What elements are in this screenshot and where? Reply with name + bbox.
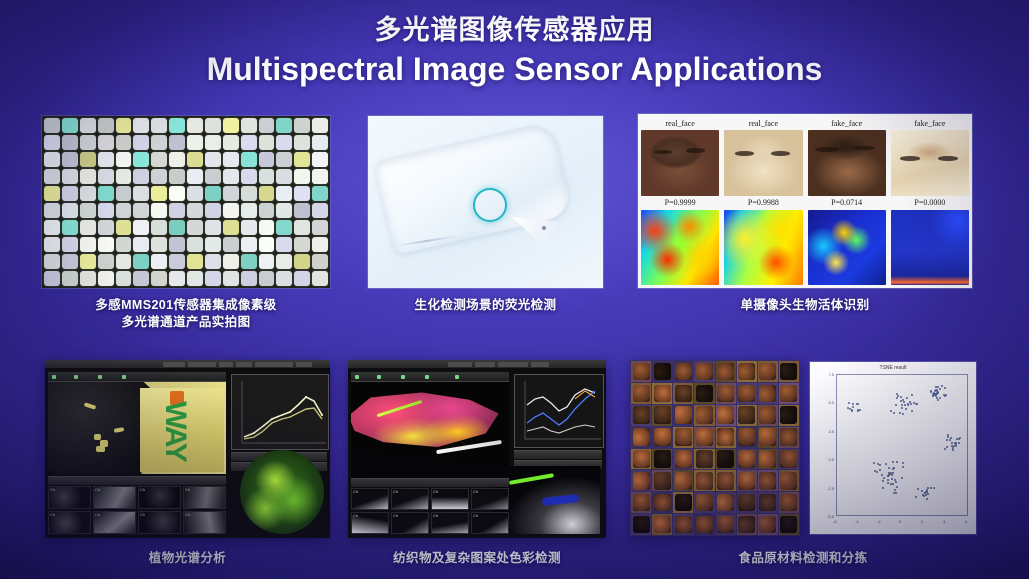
food-thumbnail	[716, 361, 736, 382]
food-thumbnail	[631, 405, 651, 426]
sensor-pixel	[98, 237, 114, 252]
scatter-point	[958, 442, 960, 444]
scatter-point	[883, 477, 885, 479]
face-result-column: fake_face P=0.0714	[808, 117, 886, 285]
sensor-pixel	[294, 220, 310, 235]
sensor-pixel	[223, 135, 239, 150]
food-thumbnail	[652, 470, 672, 491]
face-label: fake_face	[891, 117, 969, 130]
food-thumbnail	[652, 405, 672, 426]
package-text: WAY	[158, 401, 192, 461]
sensor-pixel	[223, 203, 239, 218]
food-thumbnail	[758, 470, 778, 491]
scatter-point	[944, 448, 946, 450]
food-item	[759, 406, 776, 424]
food-item	[633, 428, 650, 446]
sensor-pixel	[62, 220, 78, 235]
food-item	[633, 472, 650, 490]
food-thumbnail	[716, 383, 736, 404]
caption-line-1: 纺织物及复杂图案处色彩检测	[348, 550, 606, 567]
scatter-point	[949, 439, 951, 441]
food-item	[759, 450, 776, 468]
sensor-pixel	[169, 203, 185, 218]
sensor-pixel	[44, 152, 60, 167]
sensor-pixel	[205, 203, 221, 218]
sensor-pixel	[241, 271, 257, 286]
sensor-pixel	[133, 118, 149, 133]
food-thumbnail	[652, 514, 672, 535]
face-label: fake_face	[808, 117, 886, 130]
scatter-point	[901, 477, 903, 479]
food-thumbnail	[631, 361, 651, 382]
scatter-point	[910, 403, 912, 405]
food-item	[654, 494, 671, 512]
scatter-point	[887, 479, 889, 481]
food-item	[633, 406, 650, 424]
sensor-pixel	[187, 186, 203, 201]
scatter-x-tick: -6	[833, 519, 837, 524]
scatter-point	[954, 442, 956, 444]
panel-fluorescence-image	[368, 116, 603, 288]
sensor-pixel	[62, 254, 78, 269]
food-item	[633, 516, 650, 534]
sensor-pixel	[44, 254, 60, 269]
sensor-pixel	[187, 237, 203, 252]
scatter-point	[887, 482, 889, 484]
app-tab-row	[348, 360, 606, 368]
panel-plant-spectral-image: WAY Ch Ch Ch Ch	[45, 360, 330, 538]
caption-textile-color: 纺织物及复杂图案处色彩检测	[348, 550, 606, 567]
sensor-pixel	[223, 152, 239, 167]
sensor-pixel	[98, 135, 114, 150]
sensor-pixel	[259, 237, 275, 252]
sensor-pixel	[116, 220, 132, 235]
face-result-column: real_face P=0.9988	[724, 117, 802, 285]
face-thumbnail	[891, 130, 969, 196]
sensor-pixel	[187, 254, 203, 269]
sensor-pixel	[151, 118, 167, 133]
food-thumbnail	[673, 427, 693, 448]
food-item	[738, 450, 755, 468]
food-item	[738, 385, 755, 403]
sensor-pixel	[80, 203, 96, 218]
food-item	[759, 494, 776, 512]
food-thumbnail	[716, 514, 736, 535]
face-heatmap	[641, 210, 719, 285]
food-thumbnail	[758, 427, 778, 448]
sensor-pixel	[276, 118, 292, 133]
face-probability: P=0.9999	[641, 196, 719, 210]
sensor-pixel	[205, 237, 221, 252]
sensor-pixel	[312, 203, 328, 218]
scatter-point	[859, 409, 861, 411]
scatter-x-tick: -2	[877, 519, 881, 524]
scatter-point	[892, 461, 894, 463]
food-item	[696, 363, 713, 381]
sensor-pixel	[151, 135, 167, 150]
food-thumbnail	[716, 492, 736, 513]
food-thumbnail	[694, 514, 714, 535]
food-thumbnail	[737, 405, 757, 426]
food-item	[759, 363, 776, 381]
sensor-pixel	[133, 220, 149, 235]
scatter-point	[857, 410, 859, 412]
product-package: WAY	[140, 388, 224, 472]
caption-line-1: 植物光谱分析	[45, 550, 330, 567]
scatter-point	[882, 487, 884, 489]
sensor-pixel	[241, 186, 257, 201]
panel-textile-color-image: Ch Ch Ch Ch Ch Ch Ch Ch	[348, 360, 606, 538]
scatter-point	[944, 395, 946, 397]
scatter-point	[890, 483, 892, 485]
scatter-point	[913, 402, 915, 404]
scatter-point	[941, 385, 943, 387]
food-item	[675, 516, 692, 534]
sensor-pixel	[205, 169, 221, 184]
food-thumbnail	[652, 449, 672, 470]
food-thumbnail	[694, 405, 714, 426]
scatter-point	[876, 471, 878, 473]
scatter-point	[895, 492, 897, 494]
face-thumbnail	[724, 130, 802, 196]
slide-title-block: 多光谱图像传感器应用 Multispectral Image Sensor Ap…	[0, 13, 1029, 89]
sensor-pixel	[80, 152, 96, 167]
sensor-pixel	[276, 237, 292, 252]
food-thumbnail	[779, 361, 799, 382]
food-thumbnail	[758, 449, 778, 470]
scatter-point	[851, 410, 853, 412]
sensor-pixel	[151, 237, 167, 252]
food-item	[654, 385, 671, 403]
sensor-pixel	[169, 152, 185, 167]
scatter-point	[937, 399, 939, 401]
sensor-pixel	[241, 203, 257, 218]
food-item	[675, 428, 692, 446]
sensor-pixel	[187, 203, 203, 218]
sensor-pixel	[169, 118, 185, 133]
sensor-pixel	[44, 220, 60, 235]
scatter-point	[907, 404, 909, 406]
scatter-point	[950, 437, 952, 439]
sensor-pixel	[223, 254, 239, 269]
scatter-point	[895, 481, 897, 483]
food-thumbnail	[779, 427, 799, 448]
sensor-pixel	[294, 203, 310, 218]
sensor-pixel	[44, 237, 60, 252]
sensor-pixel	[294, 186, 310, 201]
food-thumbnail	[779, 470, 799, 491]
food-thumbnail	[716, 405, 736, 426]
sensor-pixel	[80, 237, 96, 252]
scatter-point	[925, 494, 927, 496]
sensor-pixel	[116, 118, 132, 133]
scatter-y-tick: -5.0	[819, 514, 834, 519]
sensor-pixel	[276, 186, 292, 201]
sensor-pixel	[205, 118, 221, 133]
sensor-pixel	[133, 135, 149, 150]
sensor-pixel	[312, 118, 328, 133]
food-item	[780, 363, 797, 381]
scatter-point	[892, 483, 894, 485]
food-thumbnail	[716, 449, 736, 470]
food-item	[675, 494, 692, 512]
sensor-pixel	[62, 186, 78, 201]
caption-plant-spectral: 植物光谱分析	[45, 550, 330, 567]
food-item	[780, 494, 797, 512]
food-item	[780, 516, 797, 534]
sensor-pixel	[259, 203, 275, 218]
sensor-pixel	[98, 118, 114, 133]
scatter-x-tick: -4	[855, 519, 859, 524]
scatter-point	[902, 466, 904, 468]
food-item	[780, 472, 797, 490]
sensor-pixel	[259, 152, 275, 167]
food-item	[696, 406, 713, 424]
food-thumbnail	[779, 405, 799, 426]
panel-sensor-mosaic-image	[42, 116, 330, 288]
food-thumbnail-grid	[630, 360, 800, 536]
sensor-pixel	[169, 135, 185, 150]
sensor-pixel	[44, 186, 60, 201]
scatter-point	[916, 403, 918, 405]
sensor-pixel	[62, 237, 78, 252]
classification-result-image	[240, 450, 324, 534]
scatter-point	[894, 489, 896, 491]
sensor-pixel	[169, 254, 185, 269]
sensor-pixel	[223, 118, 239, 133]
sensor-pixel	[98, 203, 114, 218]
sensor-pixel	[133, 271, 149, 286]
sensor-pixel	[151, 169, 167, 184]
sensor-pixel	[223, 271, 239, 286]
textile-false-color-preview	[351, 382, 509, 478]
scatter-point	[902, 462, 904, 464]
sensor-pixel	[116, 203, 132, 218]
sensor-pixel	[223, 169, 239, 184]
sensor-pixel	[116, 237, 132, 252]
food-item	[654, 406, 671, 424]
sensor-pixel	[223, 186, 239, 201]
food-item	[717, 494, 734, 512]
food-thumbnail	[737, 361, 757, 382]
food-item	[717, 428, 734, 446]
food-item	[717, 472, 734, 490]
sensor-pixel	[205, 152, 221, 167]
sensor-pixel	[62, 118, 78, 133]
food-item	[696, 494, 713, 512]
scatter-point	[946, 439, 948, 441]
caption-sensor-mosaic: 多感MMS201传感器集成像素级 多光谱通道产品实拍图	[42, 297, 330, 331]
sensor-pixel	[169, 237, 185, 252]
sensor-pixel	[133, 152, 149, 167]
scatter-point	[932, 395, 934, 397]
sensor-pixel	[259, 186, 275, 201]
food-item	[696, 472, 713, 490]
sensor-pixel	[276, 135, 292, 150]
scatter-point	[915, 496, 917, 498]
caption-line-1: 单摄像头生物活体识别	[638, 297, 972, 314]
sensor-pixel	[116, 186, 132, 201]
food-item	[717, 363, 734, 381]
sensor-pixel	[44, 271, 60, 286]
sensor-pixel	[241, 118, 257, 133]
food-thumbnail	[758, 405, 778, 426]
spectral-plot	[231, 374, 329, 450]
scatter-y-tick: 5.0	[819, 400, 834, 405]
food-thumbnail	[694, 383, 714, 404]
scatter-plot-title: TSNE result	[810, 365, 976, 371]
food-item	[654, 516, 671, 534]
sensor-pixel	[276, 152, 292, 167]
sensor-pixel	[241, 152, 257, 167]
sensor-pixel	[294, 271, 310, 286]
scatter-point	[937, 391, 939, 393]
scatter-point	[896, 393, 898, 395]
food-thumbnail	[631, 449, 651, 470]
sensor-pixel	[241, 237, 257, 252]
scatter-point	[905, 408, 907, 410]
scatter-point	[857, 403, 859, 405]
caption-line-2: 多光谱通道产品实拍图	[42, 314, 330, 331]
face-result-column: real_face P=0.9999	[641, 117, 719, 285]
sensor-pixel	[98, 254, 114, 269]
section-header-display-channels[interactable]	[48, 476, 226, 485]
food-thumbnail	[779, 449, 799, 470]
camera-preview: WAY	[48, 382, 226, 474]
food-thumbnail	[631, 514, 651, 535]
scatter-point	[930, 487, 932, 489]
filter-array-mosaic	[44, 118, 328, 286]
sensor-pixel	[259, 271, 275, 286]
sensor-pixel	[259, 169, 275, 184]
food-item	[717, 450, 734, 468]
food-item	[696, 450, 713, 468]
sensor-pixel	[205, 186, 221, 201]
food-thumbnail	[737, 427, 757, 448]
caption-food-sorting: 食品原材料检测和分拣	[630, 550, 976, 567]
food-thumbnail	[779, 383, 799, 404]
scatter-point	[893, 412, 895, 414]
scatter-y-tick: 7.5	[819, 372, 834, 377]
food-item	[675, 406, 692, 424]
food-thumbnail	[673, 449, 693, 470]
scatter-point	[917, 488, 919, 490]
scatter-point	[921, 490, 923, 492]
food-item	[738, 406, 755, 424]
food-item	[759, 516, 776, 534]
food-thumbnail	[758, 514, 778, 535]
sensor-pixel	[223, 237, 239, 252]
sensor-pixel	[259, 135, 275, 150]
food-item	[654, 472, 671, 490]
scatter-x-tick: 4	[943, 519, 945, 524]
scatter-point	[925, 491, 927, 493]
sensor-pixel	[116, 152, 132, 167]
food-item	[696, 516, 713, 534]
face-label: real_face	[724, 117, 802, 130]
slide-canvas: 多光谱图像传感器应用 Multispectral Image Sensor Ap…	[0, 0, 1029, 579]
food-thumbnail	[631, 427, 651, 448]
channel-thumbnail-grid: Ch Ch Ch Ch Ch Ch Ch Ch	[351, 488, 509, 534]
food-thumbnail	[758, 361, 778, 382]
scatter-point	[903, 401, 905, 403]
face-result-column: fake_face P=0.0000	[891, 117, 969, 285]
channel-thumbnail-grid: Ch Ch Ch Ch Ch Ch Ch Ch	[48, 486, 226, 534]
sensor-pixel	[151, 152, 167, 167]
sensor-pixel	[169, 169, 185, 184]
food-item	[738, 472, 755, 490]
food-thumbnail	[694, 427, 714, 448]
caption-fluorescence: 生化检测场景的荧光检测	[368, 297, 603, 314]
food-item	[654, 428, 671, 446]
scatter-point	[906, 397, 908, 399]
section-header-display-channels[interactable]	[351, 478, 509, 487]
scatter-point	[900, 396, 902, 398]
sensor-pixel	[151, 254, 167, 269]
sensor-pixel	[312, 169, 328, 184]
sensor-pixel	[80, 271, 96, 286]
food-thumbnail	[694, 470, 714, 491]
sensor-pixel	[133, 169, 149, 184]
sensor-pixel	[98, 271, 114, 286]
sensor-pixel	[169, 220, 185, 235]
scatter-point	[896, 486, 898, 488]
food-item	[675, 385, 692, 403]
food-item	[780, 385, 797, 403]
food-thumbnail	[737, 492, 757, 513]
sensor-pixel	[312, 220, 328, 235]
sensor-pixel	[294, 118, 310, 133]
sensor-pixel	[187, 220, 203, 235]
page-title-english: Multispectral Image Sensor Applications	[0, 49, 1029, 89]
sensor-pixel	[312, 254, 328, 269]
section-header-dropdown[interactable]	[514, 450, 602, 459]
food-thumbnail	[652, 427, 672, 448]
scatter-point	[885, 463, 887, 465]
spectral-plot-svg	[515, 375, 603, 447]
food-item	[675, 363, 692, 381]
scatter-plot-frame: -6-4-202467.55.02.50.0-2.5-5.0	[836, 374, 968, 516]
food-thumbnail	[716, 470, 736, 491]
cartridge-screw-dot	[542, 226, 546, 230]
sensor-pixel	[187, 135, 203, 150]
sensor-pixel	[62, 203, 78, 218]
sensor-pixel	[116, 169, 132, 184]
food-item	[780, 428, 797, 446]
sensor-pixel	[205, 254, 221, 269]
food-thumbnail	[652, 361, 672, 382]
food-item	[759, 428, 776, 446]
sensor-pixel	[62, 135, 78, 150]
sensor-pixel	[294, 237, 310, 252]
scatter-point	[896, 397, 898, 399]
scatter-point	[901, 404, 903, 406]
sensor-pixel	[151, 271, 167, 286]
food-item	[675, 472, 692, 490]
food-item	[780, 450, 797, 468]
food-item	[654, 363, 671, 381]
sensor-pixel	[133, 237, 149, 252]
scatter-point	[896, 461, 898, 463]
scatter-point	[933, 487, 935, 489]
scatter-point	[882, 480, 884, 482]
face-label: real_face	[641, 117, 719, 130]
sensor-pixel	[98, 186, 114, 201]
sensor-pixel	[98, 220, 114, 235]
scatter-point	[911, 410, 913, 412]
food-item	[780, 406, 797, 424]
food-thumbnail	[758, 383, 778, 404]
